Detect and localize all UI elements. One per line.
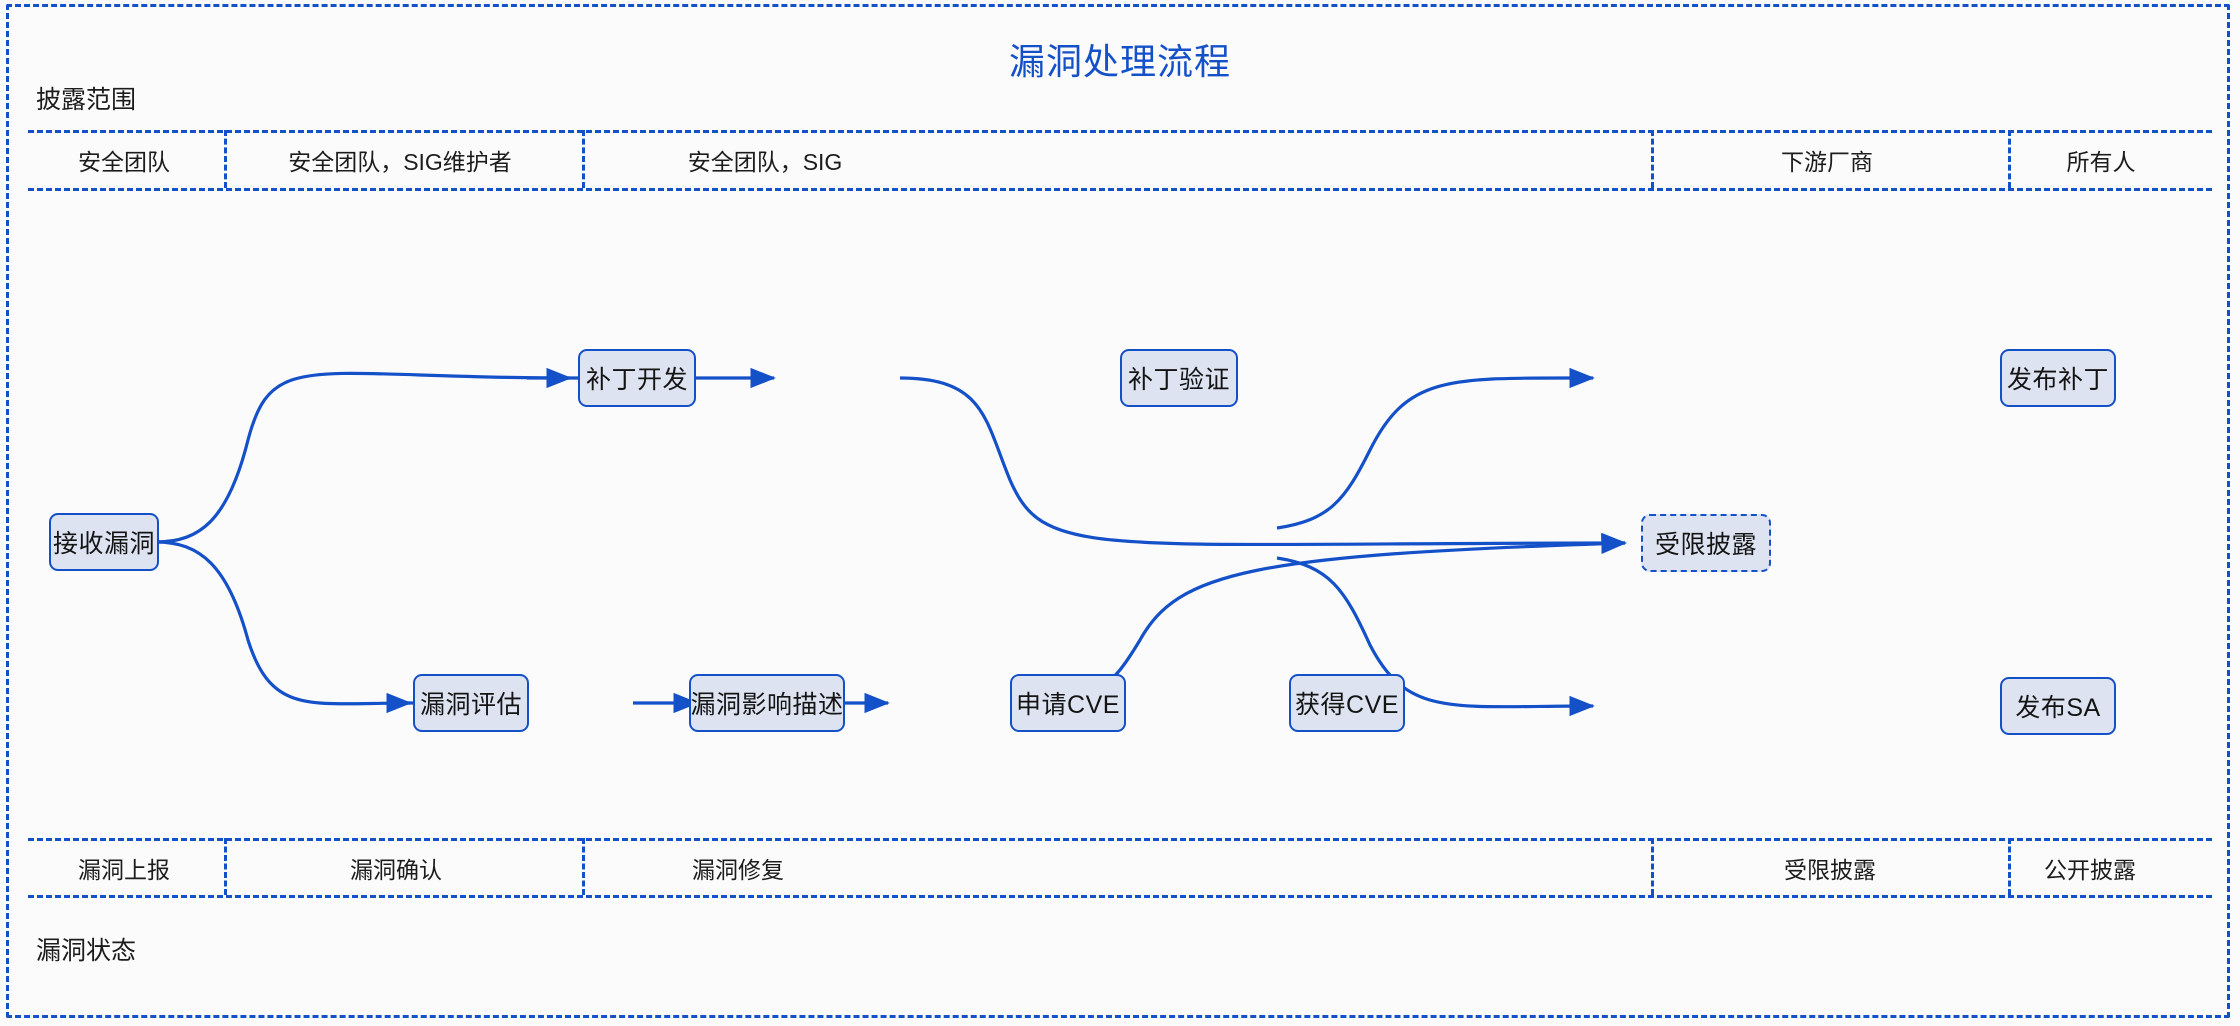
- top-band-upper-rule: [28, 130, 2212, 133]
- bottom-lane-label-fix: 漏洞修复: [692, 851, 784, 885]
- bottom-lane-label-confirm: 漏洞确认: [350, 851, 442, 885]
- bottom-band-upper-rule: [28, 838, 2212, 841]
- node-impact-description[interactable]: 漏洞影响描述: [689, 674, 845, 732]
- bottom-lane-label-public: 公开披露: [2044, 851, 2136, 885]
- node-release-patch[interactable]: 发布补丁: [2000, 349, 2116, 407]
- bottom-lane-divider-2: [582, 838, 585, 895]
- top-lane-divider-3: [1651, 130, 1654, 188]
- page-title: 漏洞处理流程: [0, 33, 2240, 85]
- top-band-caption: 披露范围: [36, 80, 136, 116]
- top-lane-label-security-team: 安全团队: [78, 143, 170, 177]
- top-lane-divider-1: [224, 130, 227, 188]
- top-lane-label-everyone: 所有人: [2067, 143, 2136, 177]
- bottom-band-lower-rule: [28, 895, 2212, 898]
- node-patch-development[interactable]: 补丁开发: [578, 349, 696, 407]
- bottom-lane-label-limited: 受限披露: [1784, 851, 1876, 885]
- node-release-sa[interactable]: 发布SA: [2000, 677, 2116, 735]
- bottom-lane-divider-3: [1651, 838, 1654, 895]
- node-apply-cve[interactable]: 申请CVE: [1010, 674, 1126, 732]
- bottom-band-caption: 漏洞状态: [36, 931, 136, 967]
- top-lane-label-downstream-vendor: 下游厂商: [1781, 143, 1873, 177]
- node-receive-vulnerability[interactable]: 接收漏洞: [49, 513, 159, 571]
- top-lane-label-security-sig-maint: 安全团队，SIG维护者: [288, 143, 512, 177]
- top-band-lower-rule: [28, 188, 2212, 191]
- node-limited-disclosure[interactable]: 受限披露: [1641, 514, 1771, 572]
- node-patch-verification[interactable]: 补丁验证: [1120, 349, 1238, 407]
- bottom-lane-divider-4: [2008, 838, 2011, 895]
- flowchart-canvas: 漏洞处理流程 披露范围 漏洞状态 安全团队 安全团队，SIG维护者 安全团队，S…: [0, 0, 2240, 1026]
- top-lane-divider-2: [582, 130, 585, 188]
- top-lane-divider-4: [2008, 130, 2011, 188]
- top-lane-label-security-sig: 安全团队，SIG: [688, 143, 843, 177]
- bottom-lane-divider-1: [224, 838, 227, 895]
- node-vulnerability-assessment[interactable]: 漏洞评估: [413, 674, 529, 732]
- bottom-lane-label-report: 漏洞上报: [78, 851, 170, 885]
- node-obtain-cve[interactable]: 获得CVE: [1289, 674, 1405, 732]
